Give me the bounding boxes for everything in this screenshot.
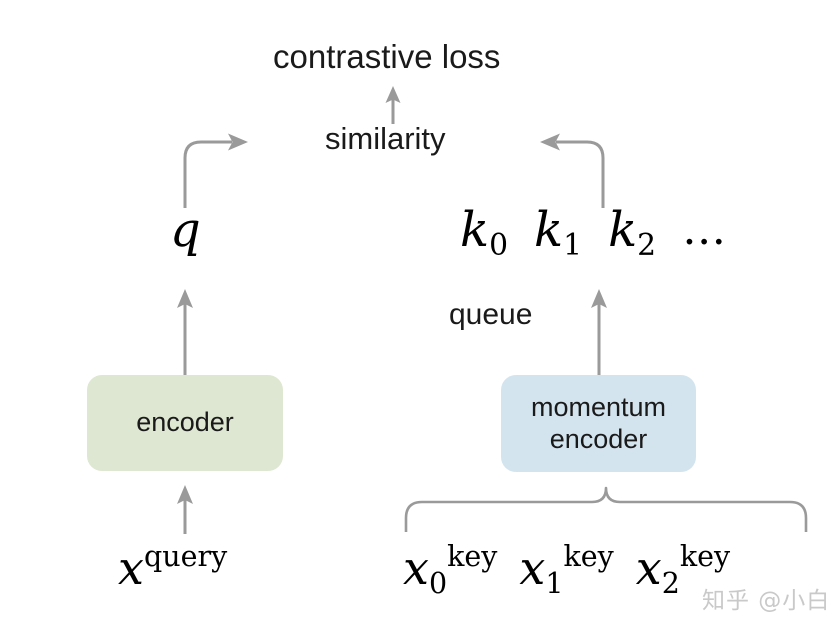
key-inputs-row: x0key x1key x2key bbox=[403, 545, 730, 591]
key-ellipsis-base: … bbox=[682, 204, 726, 255]
similarity-label: similarity bbox=[325, 123, 446, 154]
x2-superscript: key bbox=[680, 543, 730, 572]
similarity-to-loss-arrow bbox=[380, 84, 406, 124]
momentum-encoder-to-k-arrow bbox=[586, 288, 612, 376]
encoder-to-q-arrow bbox=[172, 288, 198, 376]
momentum-encoder-box[interactable]: momentum encoder bbox=[501, 375, 696, 472]
encoder-box[interactable]: encoder bbox=[87, 375, 283, 471]
x0-superscript: key bbox=[447, 543, 497, 572]
query-input-symbol: xquery bbox=[118, 545, 227, 591]
key-input-symbol-0: x0key bbox=[403, 545, 497, 591]
key-symbol-2: k2 bbox=[608, 206, 656, 254]
key-inputs-brace bbox=[398, 486, 814, 532]
x1-subscript: 1 bbox=[545, 570, 563, 599]
k-to-similarity-elbow-arrow bbox=[528, 128, 618, 208]
query-representation-symbol: q bbox=[170, 206, 201, 254]
zhihu-watermark: 知乎 @小白 bbox=[702, 581, 826, 615]
x0-subscript: 0 bbox=[429, 570, 447, 599]
k0-base: k bbox=[460, 202, 489, 258]
k1-subscript: 1 bbox=[563, 231, 582, 261]
encoder-box-label: encoder bbox=[136, 407, 234, 439]
q-to-similarity-elbow-arrow bbox=[170, 128, 260, 208]
key-symbol-1: k1 bbox=[534, 206, 582, 254]
k2-subscript: 2 bbox=[637, 231, 656, 261]
contrastive-loss-label: contrastive loss bbox=[273, 40, 500, 73]
q-base: q bbox=[170, 202, 201, 258]
moco-architecture-diagram: contrastive loss similarity q k0 k1 bbox=[0, 0, 826, 634]
x1-base: x bbox=[519, 541, 545, 595]
x1-superscript: key bbox=[563, 543, 613, 572]
key-representations-row: k0 k1 k2 … bbox=[460, 206, 726, 254]
k2-base: k bbox=[608, 202, 637, 258]
key-symbol-0: k0 bbox=[460, 206, 508, 254]
x0-base: x bbox=[403, 541, 429, 595]
queue-label: queue bbox=[449, 300, 532, 330]
x-query-base: x bbox=[118, 541, 144, 595]
x2-subscript: 2 bbox=[662, 570, 680, 599]
key-input-symbol-1: x1key bbox=[519, 545, 613, 591]
x-query-superscript: query bbox=[144, 543, 227, 572]
query-input-to-encoder-arrow bbox=[172, 484, 198, 534]
k1-base: k bbox=[534, 202, 563, 258]
x2-base: x bbox=[636, 541, 662, 595]
key-symbol-ellipsis: … bbox=[682, 208, 726, 252]
k0-subscript: 0 bbox=[489, 231, 508, 261]
momentum-encoder-box-label: momentum encoder bbox=[531, 392, 666, 456]
